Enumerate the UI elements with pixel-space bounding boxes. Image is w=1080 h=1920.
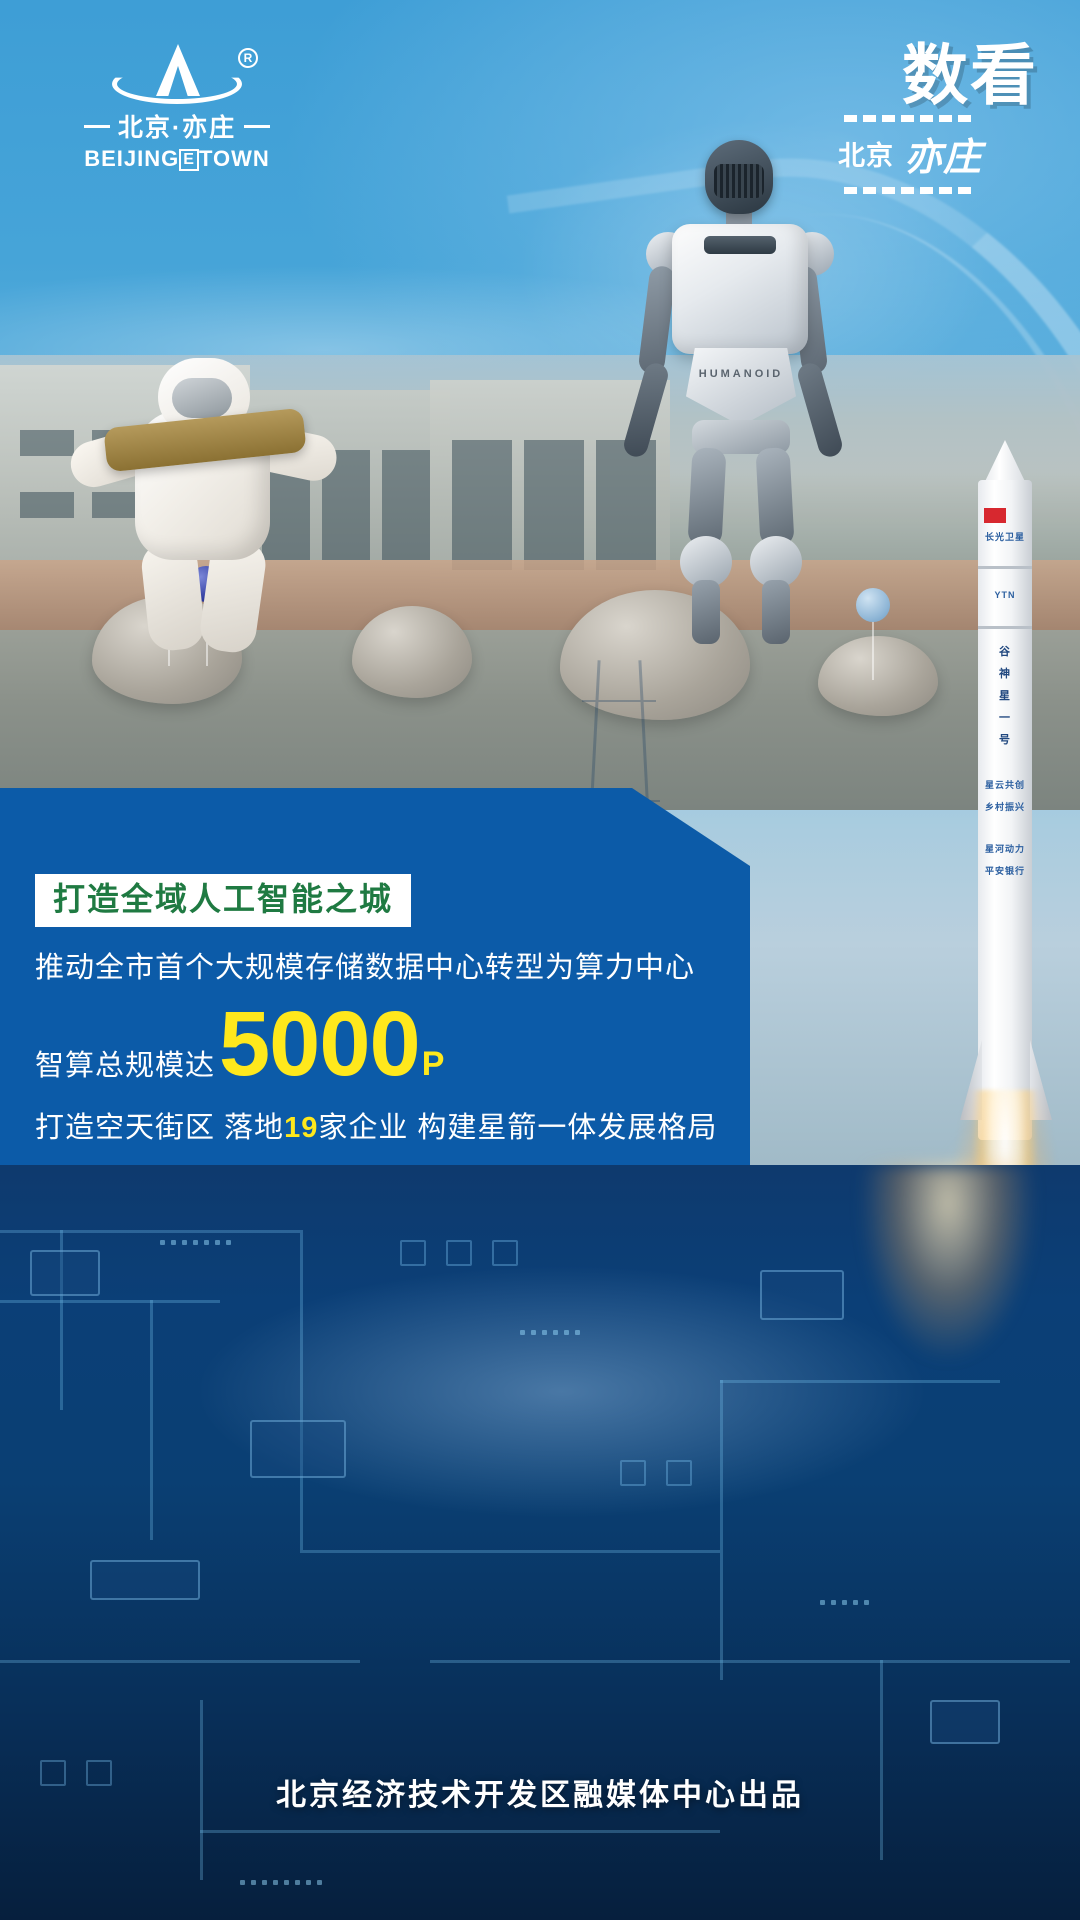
mountain-swoosh-logo-icon: R xyxy=(112,42,242,104)
brand-dotted-rule-top xyxy=(844,115,1038,122)
logo-english-name: BEIJINGETOWN xyxy=(62,146,292,172)
registered-trademark-icon: R xyxy=(238,48,258,68)
panel-stat-row: 智算总规模达 5000 P xyxy=(35,1002,735,1087)
rocket-operator: 长光卫星 xyxy=(978,532,1032,542)
ic-chip xyxy=(930,1700,1000,1744)
rocket-name-char-5: 号 xyxy=(978,734,1032,747)
stat-value: 5000 xyxy=(219,1002,420,1087)
logo-en-eijing: EIJING xyxy=(101,146,179,171)
rocket-name-char-4: 一 xyxy=(978,712,1032,725)
ic-chip xyxy=(250,1420,346,1478)
rocket-flame-glow xyxy=(840,1165,1080,1545)
balloon xyxy=(856,588,890,622)
astronaut-statue xyxy=(40,330,370,650)
robot-face-visor xyxy=(714,164,764,198)
logo-en-boxed-e: E xyxy=(179,149,199,171)
beijing-etown-logo[interactable]: R 北京·亦庄 BEIJINGETOWN xyxy=(62,42,292,157)
panel-line-3-highlight: 19 xyxy=(284,1112,318,1144)
brand-dotted-rule-bottom xyxy=(844,187,1038,194)
rocket-name-char-3: 星 xyxy=(978,690,1032,703)
panel-headline: 打造全域人工智能之城 xyxy=(35,874,411,927)
china-flag-icon xyxy=(984,508,1006,523)
panel-line-3: 打造空天街区 落地19家企业 构建星箭一体发展格局 xyxy=(35,1109,735,1148)
rocket-sponsor-2: 平安银行 xyxy=(978,866,1032,876)
logo-en-town: TOWN xyxy=(199,146,270,171)
logo-dash-left xyxy=(84,125,110,128)
content-panel: 打造全域人工智能之城 推动全市首个大规模存储数据中心转型为算力中心 智算总规模达… xyxy=(0,788,750,1198)
rocket-mark: YTN xyxy=(978,590,1032,600)
stat-label: 智算总规模达 xyxy=(35,1042,215,1084)
panel-line-1: 推动全市首个大规模存储数据中心转型为算力中心 xyxy=(35,949,735,988)
shukan-brand-lockup: 数看 北京 亦庄 xyxy=(838,44,1038,194)
balloon-string xyxy=(872,620,874,680)
footer-credit: 北京经济技术开发区融媒体中心出品 xyxy=(0,1770,1080,1814)
rocket-slogan-2: 乡村振兴 xyxy=(978,802,1032,812)
ic-chip xyxy=(760,1270,844,1320)
rocket-name-char-1: 谷 xyxy=(978,646,1032,659)
window xyxy=(452,440,512,570)
brand-title: 数看 xyxy=(838,44,1038,107)
robot-body-label: HUMANOID xyxy=(676,368,806,380)
rocket-launch-vehicle: 长光卫星 YTN 谷 神 星 一 号 星云共创 乡村振兴 星河动力 平安银行 xyxy=(960,440,1050,1140)
panel-line-3-b: 家企业 构建星箭一体发展格局 xyxy=(318,1112,717,1144)
ic-chip xyxy=(30,1250,100,1296)
logo-en-b: B xyxy=(84,146,101,171)
humanoid-robot: HUMANOID xyxy=(600,140,860,660)
brand-subtitle: 北京 亦庄 xyxy=(838,126,1038,181)
rocket-name-char-2: 神 xyxy=(978,668,1032,681)
stat-unit: P xyxy=(422,1045,445,1084)
rocket-sponsor-1: 星河动力 xyxy=(978,844,1032,854)
logo-cn-text: 北京·亦庄 xyxy=(118,108,236,144)
ic-chip xyxy=(90,1560,200,1600)
logo-dash-right xyxy=(244,125,270,128)
logo-chinese-name: 北京·亦庄 xyxy=(62,108,292,144)
rocket-slogan-1: 星云共创 xyxy=(978,780,1032,790)
brand-subtitle-script: 亦庄 xyxy=(904,126,982,181)
window xyxy=(524,440,584,570)
brand-subtitle-prefix: 北京 xyxy=(838,134,894,173)
panel-line-3-a: 打造空天街区 落地 xyxy=(35,1112,284,1144)
poster-root: HUMANOID 长光卫星 YTN 谷 神 星 一 号 星云共创 乡村振兴 星河… xyxy=(0,0,1080,1920)
window xyxy=(382,450,430,560)
